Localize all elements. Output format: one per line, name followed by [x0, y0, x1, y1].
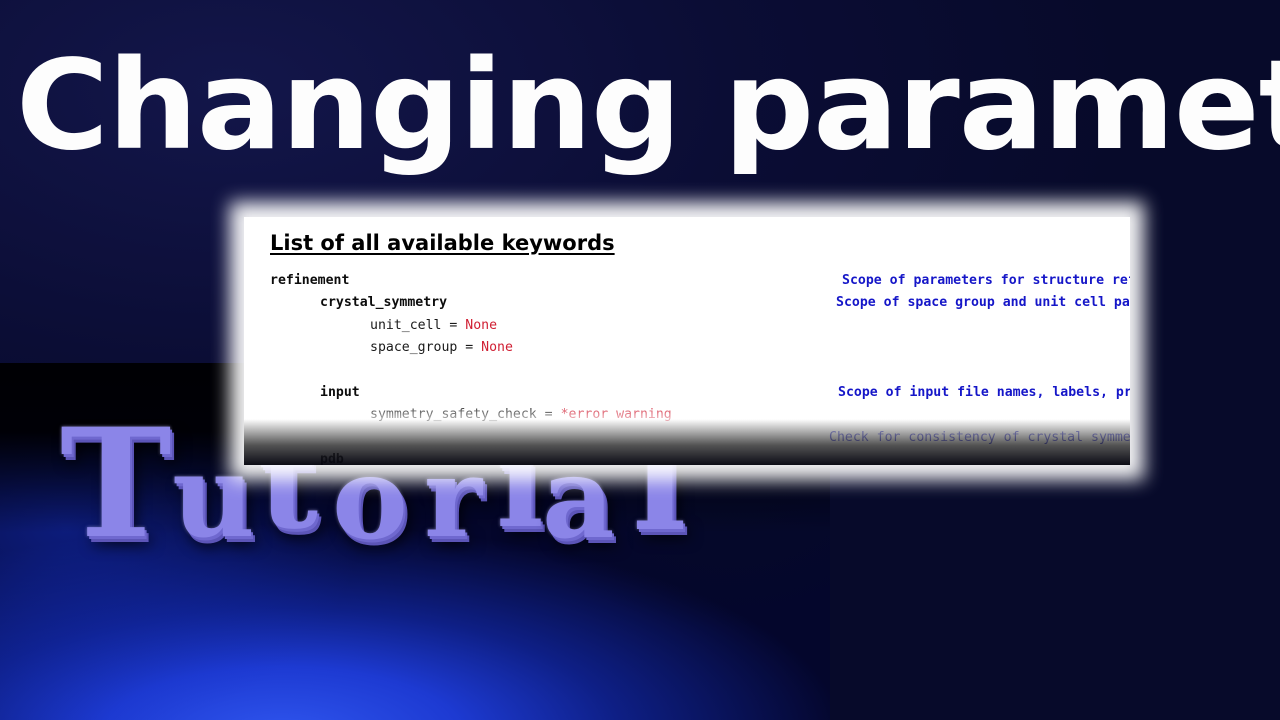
keyword-row: pdb — [244, 452, 1130, 465]
keyword-name: unit_cell = None — [370, 318, 497, 333]
keyword-list: refinementScope of parameters for struct… — [244, 273, 1130, 465]
keywords-panel: List of all available keywords refinemen… — [244, 217, 1130, 465]
keyword-value: None — [481, 340, 513, 355]
keyword-row: Check for consistency of crystal symmetr… — [244, 430, 1130, 452]
keyword-description: Scope of parameters for structure refine… — [842, 273, 1130, 288]
keyword-row: refinementScope of parameters for struct… — [244, 273, 1130, 295]
tutorial-letter-T: T — [60, 409, 172, 559]
keyword-row: space_group = None — [244, 340, 1130, 362]
page-title: Changing parameters — [16, 34, 1280, 179]
slide-root: Changing parameters T u t o r i a l T u … — [0, 0, 1280, 720]
keyword-row — [244, 363, 1130, 385]
keyword-row: symmetry_safety_check = *error warning — [244, 407, 1130, 429]
keyword-row: unit_cell = None — [244, 318, 1130, 340]
keyword-scope: input — [320, 385, 360, 400]
keyword-row: crystal_symmetryScope of space group and… — [244, 295, 1130, 317]
keyword-name: space_group = None — [370, 340, 513, 355]
keyword-value: *error warning — [561, 407, 672, 422]
keywords-panel-wrapper: List of all available keywords refinemen… — [238, 210, 1136, 472]
panel-heading: List of all available keywords — [270, 231, 615, 255]
keyword-scope: crystal_symmetry — [320, 295, 447, 310]
keyword-description: Check for consistency of crystal symmetr… — [829, 430, 1130, 445]
keyword-description: Scope of input file names, labels, proce… — [838, 385, 1130, 400]
keyword-name: symmetry_safety_check = *error warning — [370, 407, 672, 422]
keyword-scope: pdb — [320, 452, 344, 465]
keyword-scope: refinement — [270, 273, 349, 288]
keyword-row: inputScope of input file names, labels, … — [244, 385, 1130, 407]
keyword-value: None — [465, 318, 497, 333]
keyword-description: Scope of space group and unit cell param… — [836, 295, 1130, 310]
